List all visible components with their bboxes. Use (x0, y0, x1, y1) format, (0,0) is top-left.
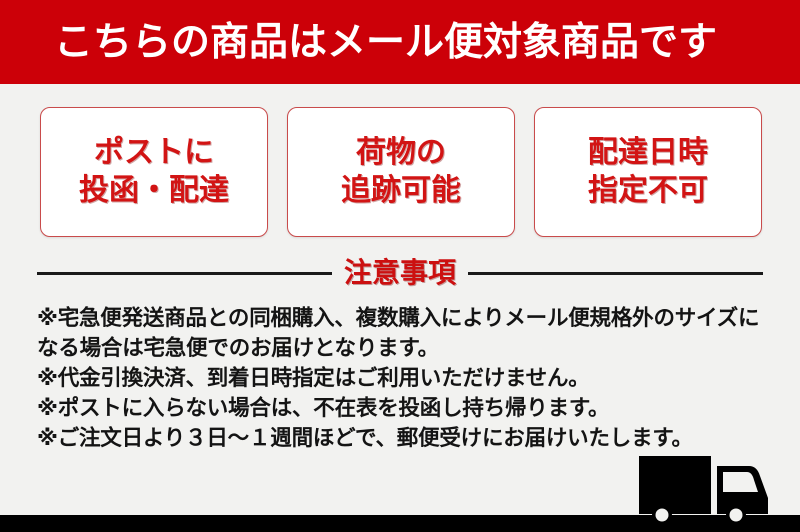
feature-box-tracking: 荷物の 追跡可能 (287, 107, 515, 237)
notice-list-item: ※代金引換決済、到着日時指定はご利用いただけません。 (37, 363, 767, 393)
notice-heading: 注意事項 (332, 259, 468, 287)
feature-box-no-time-specification: 配達日時 指定不可 (534, 107, 762, 237)
feature-box-line1: 荷物の (356, 134, 446, 172)
feature-box-line2: 指定不可 (588, 172, 708, 210)
feature-box-line2: 追跡可能 (341, 172, 461, 210)
divider-rule-left (37, 272, 332, 275)
delivery-truck-icon (637, 450, 777, 526)
notice-list-item: ※宅急便発送商品との同梱購入、複数購入によりメール便規格外のサイズになる場合は宅… (37, 303, 767, 363)
feature-box-line1: 配達日時 (588, 134, 708, 172)
feature-box-list: ポストに 投函・配達 荷物の 追跡可能 配達日時 指定不可 (40, 107, 762, 237)
notice-list-item: ※ご注文日より３日～１週間ほどで、郵便受けにお届けいたします。 (37, 423, 767, 453)
notice-list-item: ※ポストに入らない場合は、不在表を投函し持ち帰ります。 (37, 393, 767, 423)
feature-box-line1: ポストに (94, 134, 214, 172)
notice-divider: 注意事項 (37, 255, 763, 291)
mail-shipping-notice-banner: こちらの商品はメール便対象商品です ポストに 投函・配達 荷物の 追跡可能 配達… (0, 0, 800, 532)
feature-box-post-delivery: ポストに 投函・配達 (40, 107, 268, 237)
divider-rule-right (468, 272, 763, 275)
header-bar: こちらの商品はメール便対象商品です (0, 0, 800, 84)
page-title: こちらの商品はメール便対象商品です (0, 23, 717, 62)
feature-box-line2: 投函・配達 (79, 172, 229, 210)
notice-list: ※宅急便発送商品との同梱購入、複数購入によりメール便規格外のサイズになる場合は宅… (37, 303, 767, 453)
